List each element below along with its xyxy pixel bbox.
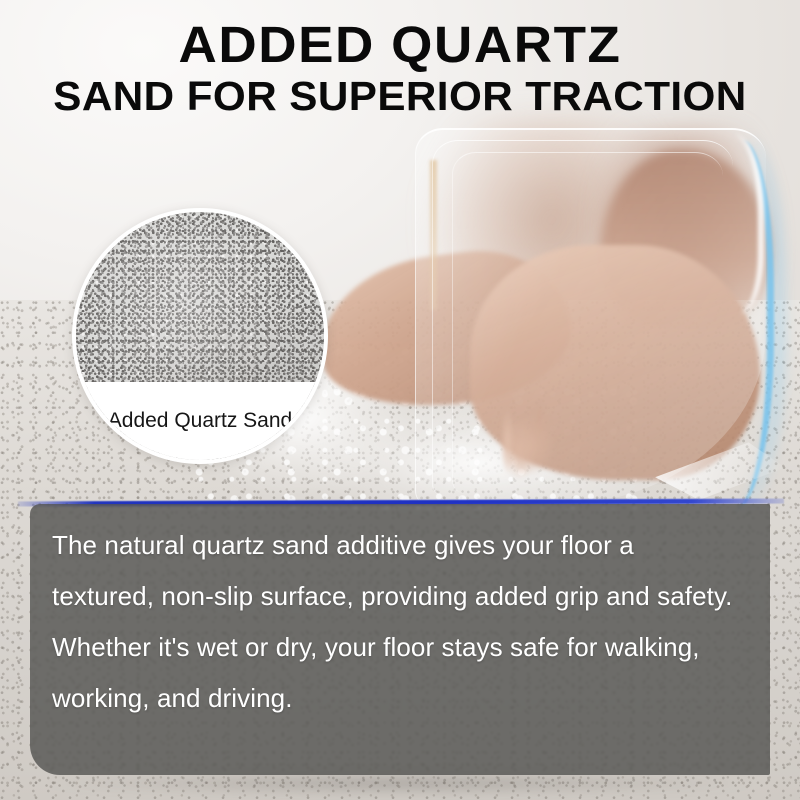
headline-line-1: ADDED QUARTZ [0,18,800,72]
mat-edge-highlight [700,134,764,314]
circle-caption-band: Added Quartz Sand [76,382,324,460]
product-feature-banner: ADDED QUARTZ SAND FOR SUPERIOR TRACTION … [0,0,800,800]
headline-line-2: SAND FOR SUPERIOR TRACTION [0,72,800,120]
description-panel: The natural quartz sand additive gives y… [30,504,770,775]
description-text: The natural quartz sand additive gives y… [52,520,742,724]
headline: ADDED QUARTZ SAND FOR SUPERIOR TRACTION [0,18,800,120]
circle-caption-text: Added Quartz Sand [108,408,292,434]
quartz-sand-circle-inset: Added Quartz Sand [72,208,328,464]
mat-outline-inner-2 [452,152,723,493]
